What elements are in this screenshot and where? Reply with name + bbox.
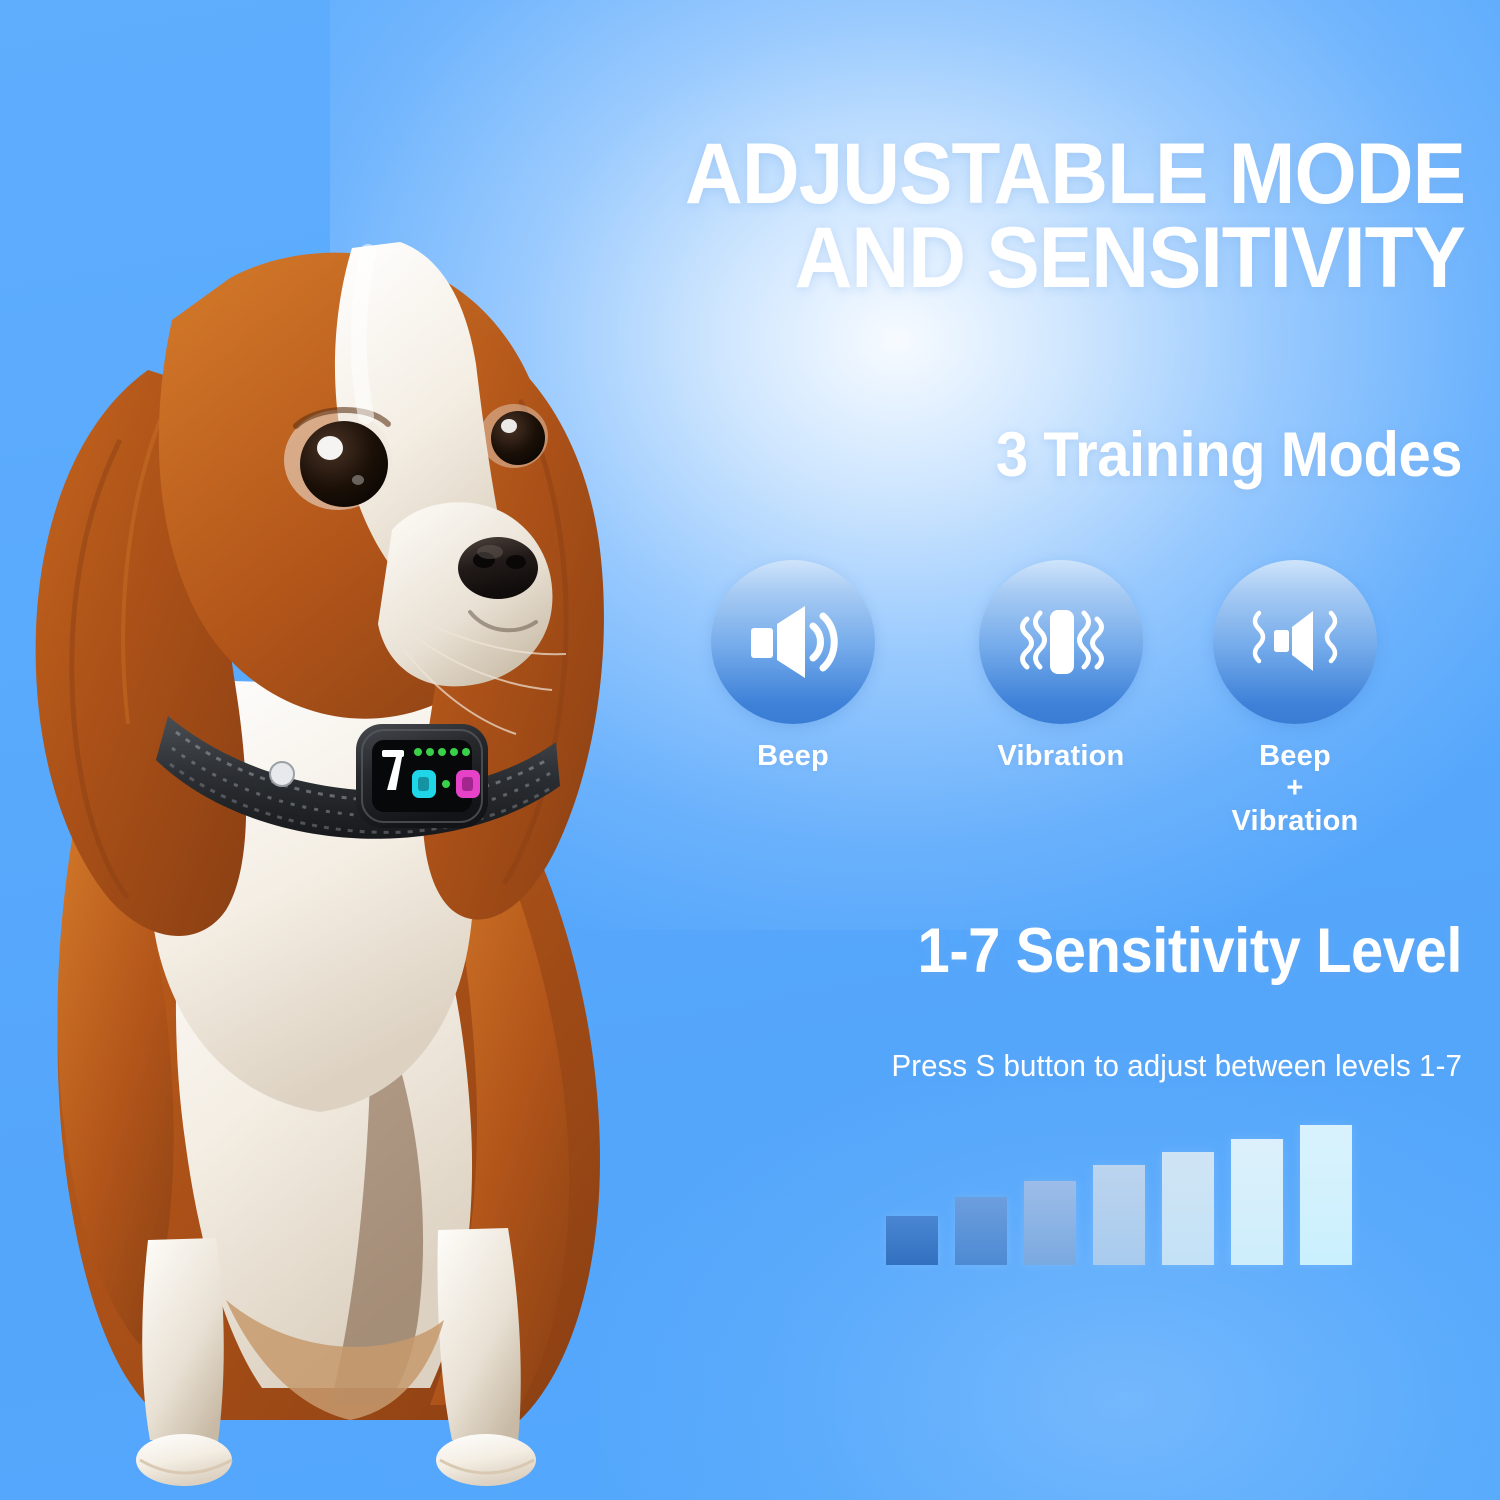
speaker-sound-icon xyxy=(747,602,839,682)
sensitivity-bar-1 xyxy=(886,1216,938,1265)
mode-label-vibration: Vibration xyxy=(968,740,1154,772)
sensitivity-note: Press S button to adjust between levels … xyxy=(605,1050,1462,1081)
background-secondary-glow xyxy=(600,1050,1500,1500)
mode-label-beep-vibration: Beep + Vibration xyxy=(1202,740,1388,837)
mode-icon-bubble-beep-vibration xyxy=(1213,560,1377,724)
mode-label-line-1: Beep xyxy=(1259,740,1331,772)
sensitivity-level-chart xyxy=(886,1125,1369,1265)
sensitivity-bar-7 xyxy=(1300,1125,1352,1265)
mode-icon-bubble-vibration xyxy=(979,560,1143,724)
mode-item-vibration[interactable]: Vibration xyxy=(968,560,1154,772)
dog-image xyxy=(0,120,680,1500)
speaker-with-vibration-icon xyxy=(1247,603,1343,681)
mode-label-line-2: + xyxy=(1286,772,1303,804)
mode-item-beep[interactable]: Beep xyxy=(700,560,886,772)
mode-item-beep-vibration[interactable]: Beep + Vibration xyxy=(1202,560,1388,837)
training-modes-list: Beep Vibration xyxy=(700,560,1480,850)
sensitivity-heading: 1-7 Sensitivity Level xyxy=(632,920,1462,983)
sensitivity-bar-6 xyxy=(1231,1139,1283,1265)
mode-icon-bubble-beep xyxy=(711,560,875,724)
vibrating-device-icon xyxy=(1015,601,1107,683)
product-feature-banner: ADJUSTABLE MODE AND SENSITIVITY 3 Traini… xyxy=(0,0,1500,1500)
sensitivity-bar-2 xyxy=(955,1197,1007,1265)
training-modes-heading: 3 Training Modes xyxy=(669,424,1462,487)
sensitivity-bar-4 xyxy=(1093,1165,1145,1265)
headline-line-1: ADJUSTABLE MODE xyxy=(568,132,1465,216)
headline-line-2: AND SENSITIVITY xyxy=(568,216,1465,300)
sensitivity-bar-5 xyxy=(1162,1152,1214,1265)
mode-label-beep: Beep xyxy=(700,740,886,772)
sensitivity-bar-3 xyxy=(1024,1181,1076,1265)
page-title: ADJUSTABLE MODE AND SENSITIVITY xyxy=(568,132,1465,301)
mode-label-line-3: Vibration xyxy=(1232,805,1359,837)
